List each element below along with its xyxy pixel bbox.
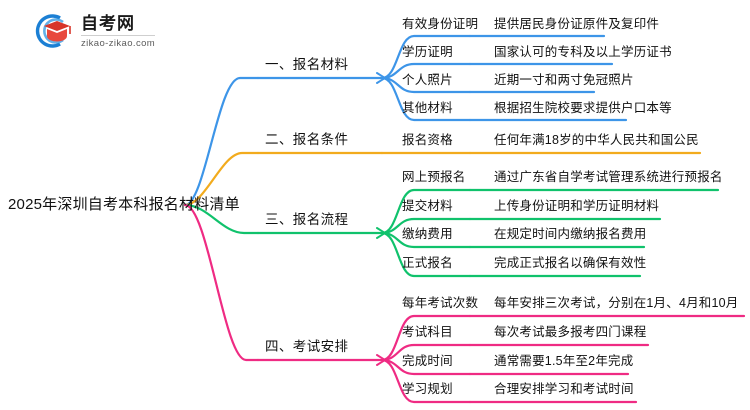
logo-url: zikao-zikao.com (81, 36, 155, 49)
leaf-label-1-1[interactable]: 有效身份证明 (402, 18, 478, 31)
branch-label-1[interactable]: 一、报名材料 (265, 58, 348, 72)
logo-text-block: 自考网 zikao-zikao.com (81, 14, 155, 49)
leaf-label-4-4[interactable]: 学习规划 (402, 383, 453, 396)
leaf-label-1-4[interactable]: 其他材料 (402, 102, 453, 115)
logo-name: 自考网 (81, 15, 155, 36)
leaf-label-3-3[interactable]: 缴纳费用 (402, 228, 453, 241)
mindmap-root-label[interactable]: 2025年深圳自考本科报名材料清单 (8, 197, 240, 212)
leaf-desc-1-3: 近期一寸和两寸免冠照片 (494, 74, 634, 87)
leaf-desc-3-1: 通过广东省自学考试管理系统进行预报名 (494, 171, 723, 184)
leaf-desc-4-2: 每次考试最多报考四门课程 (494, 326, 646, 339)
leaf-desc-4-3: 通常需要1.5年至2年完成 (494, 355, 633, 368)
branch-label-4[interactable]: 四、考试安排 (265, 340, 348, 354)
leaf-desc-4-4: 合理安排学习和考试时间 (494, 383, 634, 396)
leaf-label-1-2[interactable]: 学历证明 (402, 46, 453, 59)
leaf-label-4-1[interactable]: 每年考试次数 (402, 297, 478, 310)
leaf-label-3-4[interactable]: 正式报名 (402, 257, 453, 270)
branch-label-2[interactable]: 二、报名条件 (265, 133, 348, 147)
mindmap-canvas: 自考网 zikao-zikao.com (0, 0, 750, 410)
leaf-desc-1-1: 提供居民身份证原件及复印件 (494, 18, 659, 31)
leaf-desc-4-1: 每年安排三次考试，分别在1月、4月和10月 (494, 297, 739, 310)
leaf-label-3-2[interactable]: 提交材料 (402, 200, 453, 213)
leaf-desc-3-4: 完成正式报名以确保有效性 (494, 257, 646, 270)
leaf-desc-3-3: 在规定时间内缴纳报名费用 (494, 228, 646, 241)
graduation-cap-logo-icon (30, 12, 74, 50)
leaf-desc-2-1: 任何年满18岁的中华人民共和国公民 (494, 134, 699, 147)
site-logo: 自考网 zikao-zikao.com (30, 12, 155, 50)
leaf-label-3-1[interactable]: 网上预报名 (402, 171, 466, 184)
leaf-desc-1-2: 国家认可的专科及以上学历证书 (494, 46, 672, 59)
branch-label-3[interactable]: 三、报名流程 (265, 213, 348, 227)
leaf-label-2-1[interactable]: 报名资格 (402, 134, 453, 147)
leaf-label-1-3[interactable]: 个人照片 (402, 74, 453, 87)
leaf-desc-1-4: 根据招生院校要求提供户口本等 (494, 102, 672, 115)
leaf-label-4-3[interactable]: 完成时间 (402, 355, 453, 368)
leaf-label-4-2[interactable]: 考试科目 (402, 326, 453, 339)
leaf-desc-3-2: 上传身份证明和学历证明材料 (494, 200, 659, 213)
